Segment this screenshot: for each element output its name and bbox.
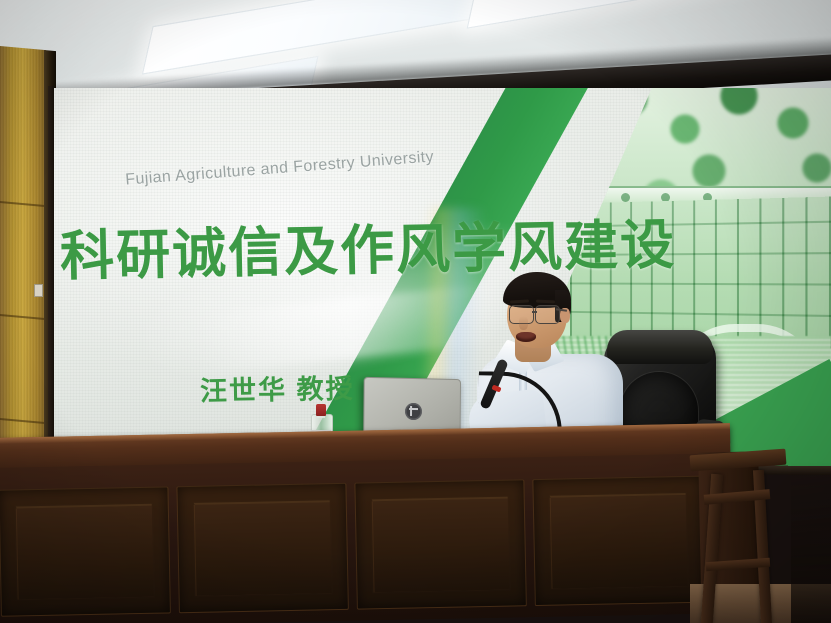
- dell-logo-icon: [405, 403, 422, 420]
- wood-wall-left: [0, 46, 46, 490]
- glasses-bridge: [532, 311, 537, 313]
- podium-panel: [0, 486, 171, 616]
- podium-front: [0, 453, 733, 623]
- slide-presenter-name: 汪世华 教授: [200, 367, 355, 409]
- lecture-photo-scene: Fujian Agriculture and Forestry Universi…: [0, 0, 831, 623]
- speaker-nose: [519, 316, 528, 330]
- right-shadow: [791, 462, 831, 623]
- podium-panel: [532, 476, 705, 606]
- speaker-mouth: [516, 332, 536, 342]
- bottle-cap: [316, 404, 326, 416]
- podium-panel: [354, 479, 527, 609]
- screen-frame-left: [48, 86, 54, 470]
- podium-panel: [176, 483, 349, 613]
- wall-socket: [34, 284, 43, 297]
